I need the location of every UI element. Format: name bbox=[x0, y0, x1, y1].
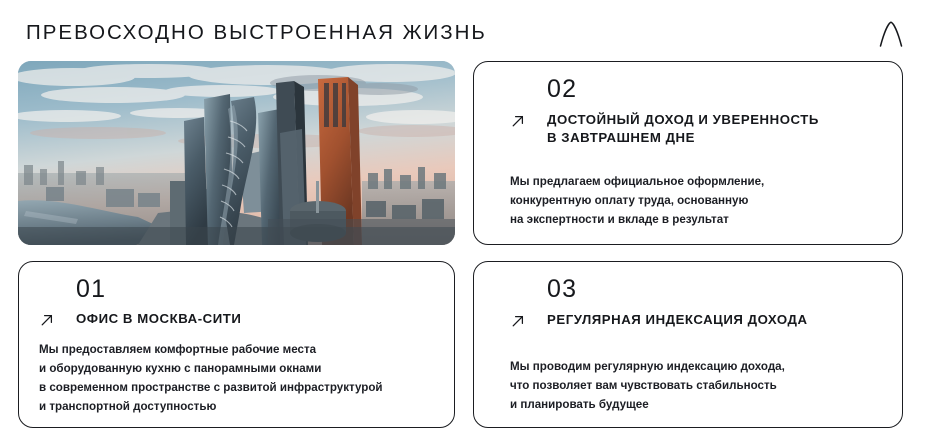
arrow-up-right-icon bbox=[39, 312, 55, 328]
brand-logo-a-icon bbox=[876, 19, 906, 49]
feature-card-02[interactable]: 02 ДОСТОЙНЫЙ ДОХОД И УВЕРЕННОСТЬ В ЗАВТР… bbox=[473, 61, 903, 245]
card-heading-line: РЕГУЛЯРНАЯ ИНДЕКСАЦИЯ ДОХОДА bbox=[547, 312, 808, 327]
card-body-line: и оборудованную кухню с панорамными окна… bbox=[39, 360, 434, 379]
feature-card-01[interactable]: 01 ОФИС В МОСКВА-СИТИ Мы предоставляем к… bbox=[18, 261, 455, 428]
card-heading-line: ДОСТОЙНЫЙ ДОХОД И УВЕРЕННОСТЬ bbox=[547, 112, 819, 127]
feature-card-03[interactable]: 03 РЕГУЛЯРНАЯ ИНДЕКСАЦИЯ ДОХОДА Мы прово… bbox=[473, 261, 903, 428]
card-body-line: Мы проводим регулярную индексацию дохода… bbox=[510, 358, 882, 377]
card-body: Мы предлагаем официальное оформление, ко… bbox=[510, 173, 882, 229]
card-heading-row: РЕГУЛЯРНАЯ ИНДЕКСАЦИЯ ДОХОДА bbox=[510, 311, 882, 330]
arrow-up-right-icon bbox=[510, 313, 526, 329]
slide-header: ПРЕВОСХОДНО ВЫСТРОЕННАЯ ЖИЗНЬ bbox=[0, 0, 930, 60]
card-body: Мы предоставляем комфортные рабочие мест… bbox=[39, 341, 434, 416]
card-body-line: и планировать будущее bbox=[510, 396, 882, 415]
card-number: 02 bbox=[547, 75, 882, 105]
card-heading-row: ОФИС В МОСКВА-СИТИ bbox=[39, 310, 434, 329]
page-title: ПРЕВОСХОДНО ВЫСТРОЕННАЯ ЖИЗНЬ bbox=[26, 23, 487, 44]
card-number: 03 bbox=[547, 275, 882, 305]
moscow-city-photo bbox=[18, 61, 455, 245]
card-heading-line: В ЗАВТРАШНЕМ ДНЕ bbox=[547, 130, 695, 145]
card-body-line: на экспертности и вкладе в результат bbox=[510, 211, 882, 230]
card-heading-line: ОФИС В МОСКВА-СИТИ bbox=[76, 311, 241, 326]
slide-root: ПРЕВОСХОДНО ВЫСТРОЕННАЯ ЖИЗНЬ bbox=[0, 0, 930, 445]
card-body-line: конкурентную оплату труда, основанную bbox=[510, 192, 882, 211]
arrow-up-right-icon bbox=[510, 113, 526, 129]
card-body-line: Мы предоставляем комфортные рабочие мест… bbox=[39, 341, 434, 360]
card-body: Мы проводим регулярную индексацию дохода… bbox=[510, 358, 882, 414]
card-body-line: что позволяет вам чувствовать стабильнос… bbox=[510, 377, 882, 396]
card-body-line: и транспортной доступностью bbox=[39, 398, 434, 417]
card-body-line: в современном пространстве с развитой ин… bbox=[39, 379, 434, 398]
card-body-line: Мы предлагаем официальное оформление, bbox=[510, 173, 882, 192]
card-heading-row: ДОСТОЙНЫЙ ДОХОД И УВЕРЕННОСТЬ В ЗАВТРАШН… bbox=[510, 111, 882, 148]
card-number: 01 bbox=[76, 275, 434, 305]
